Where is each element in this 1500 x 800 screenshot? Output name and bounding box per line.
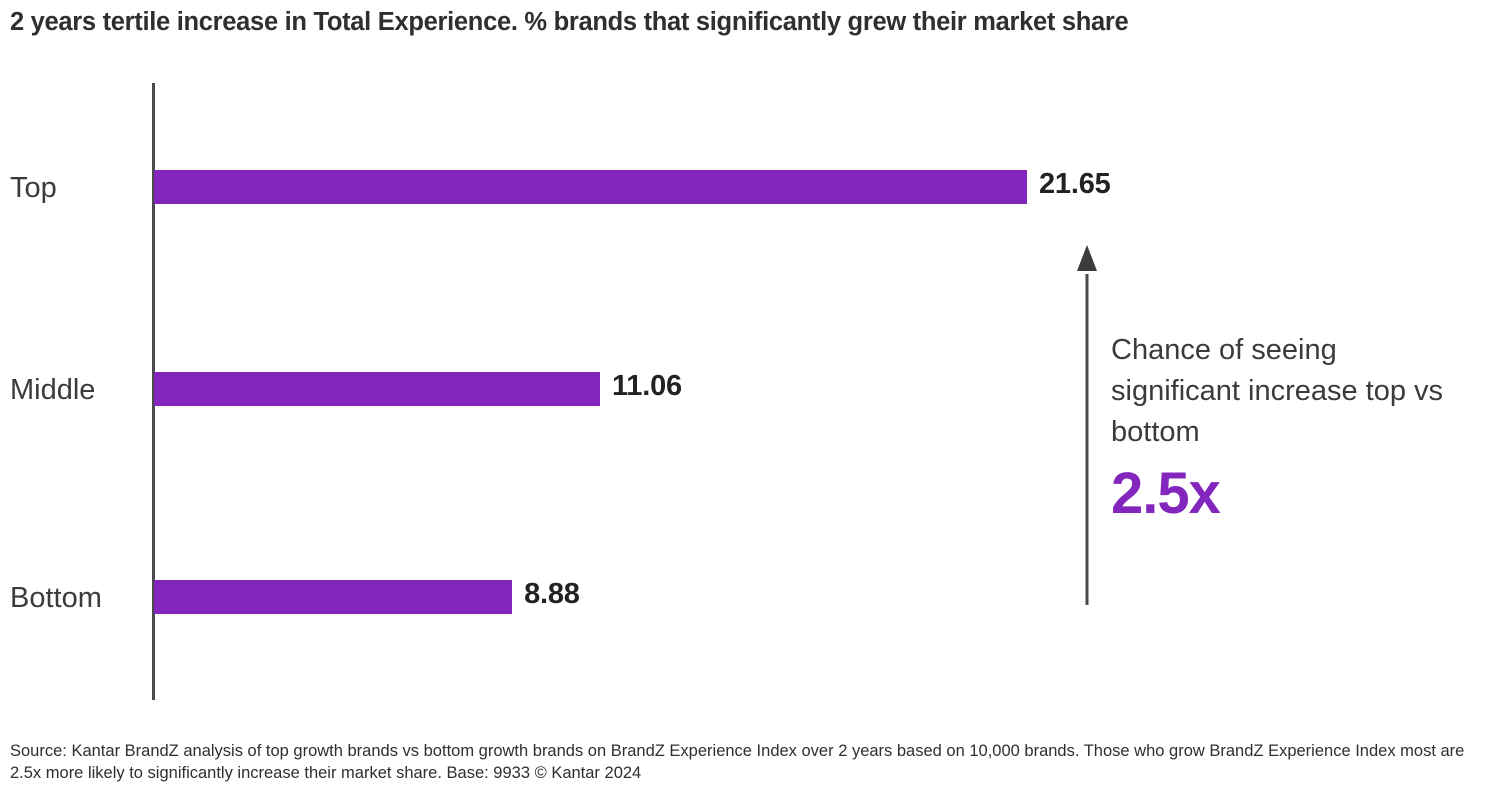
bar-top[interactable] — [154, 170, 1027, 204]
page-title: 2 years tertile increase in Total Experi… — [10, 8, 1480, 37]
bar-value-middle: 11.06 — [612, 370, 682, 403]
bar-middle[interactable] — [154, 372, 600, 406]
source-note: Source: Kantar BrandZ analysis of top gr… — [10, 740, 1490, 784]
elbow-arrow-up-icon — [600, 205, 1100, 605]
annotation-text: Chance of seeing significant increase to… — [1111, 330, 1471, 453]
annotation-multiple-value: 2.5x — [1111, 465, 1220, 523]
bar-value-top: 21.65 — [1039, 168, 1111, 201]
bar-value-bottom: 8.88 — [524, 578, 580, 611]
bar-bottom[interactable] — [154, 580, 512, 614]
